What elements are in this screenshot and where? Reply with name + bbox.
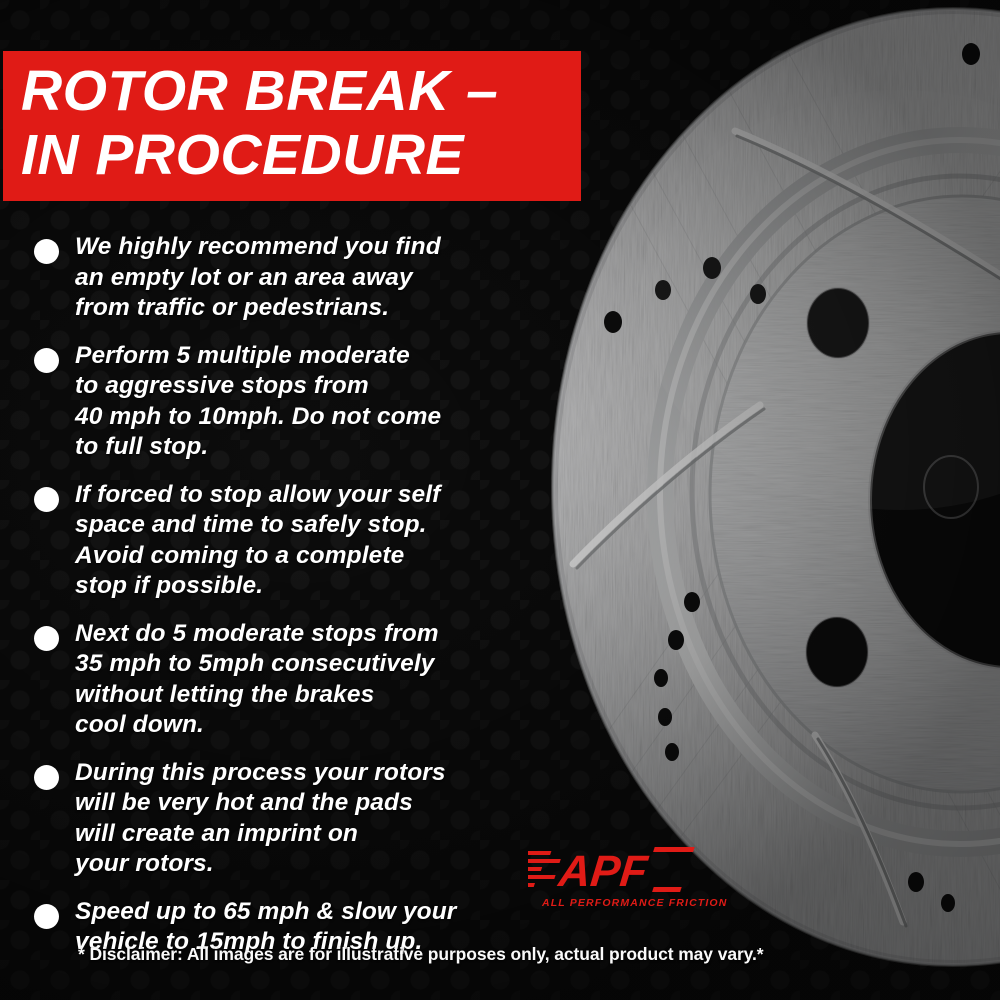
- apf-logo: APF ALL PERFORMANCE FRICTION: [528, 843, 698, 915]
- page-title-line-2: IN PROCEDURE: [21, 123, 581, 187]
- list-item-text: During this process your rotors will be …: [75, 758, 520, 880]
- bullet-dot-icon: [34, 626, 59, 651]
- bullet-dot-icon: [34, 765, 59, 790]
- list-item: During this process your rotors will be …: [20, 758, 520, 880]
- list-item: Next do 5 moderate stops from 35 mph to …: [20, 619, 520, 741]
- apf-tagline: ALL PERFORMANCE FRICTION: [542, 897, 727, 909]
- procedure-steps-list: We highly recommend you find an empty lo…: [20, 232, 520, 975]
- list-item-text: If forced to stop allow your self space …: [75, 480, 520, 602]
- bullet-dot-icon: [34, 487, 59, 512]
- page-title-line-1: ROTOR BREAK –: [21, 59, 581, 123]
- list-item-text: We highly recommend you find an empty lo…: [75, 232, 520, 324]
- promo-graphic: ROTOR BREAK – IN PROCEDURE We highly rec…: [0, 0, 1000, 1000]
- bullet-dot-icon: [34, 348, 59, 373]
- apf-logo-mark: APF: [528, 843, 698, 895]
- apf-wordmark-text: APF: [555, 847, 650, 895]
- list-item: We highly recommend you find an empty lo…: [20, 232, 520, 324]
- list-item-text: Perform 5 multiple moderate to aggressiv…: [75, 341, 520, 463]
- bullet-dot-icon: [34, 239, 59, 264]
- disclaimer-text: * Disclaimer: All images are for illustr…: [78, 944, 764, 965]
- list-item: Perform 5 multiple moderate to aggressiv…: [20, 341, 520, 463]
- bullet-dot-icon: [34, 904, 59, 929]
- list-item-text: Next do 5 moderate stops from 35 mph to …: [75, 619, 520, 741]
- title-banner: ROTOR BREAK – IN PROCEDURE: [3, 51, 581, 201]
- list-item: If forced to stop allow your self space …: [20, 480, 520, 602]
